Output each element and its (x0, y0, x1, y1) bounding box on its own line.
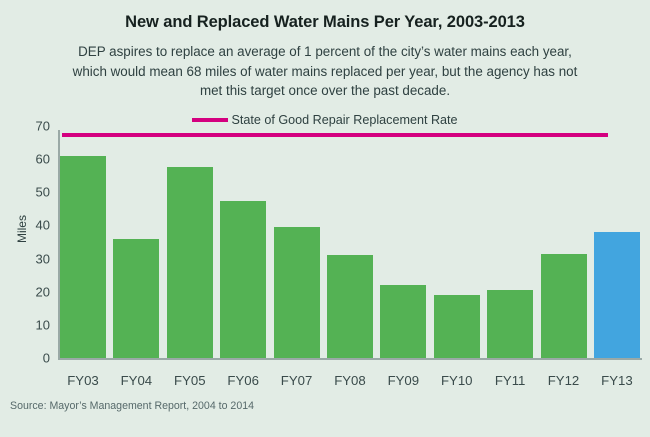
y-tick-label: 60 (36, 152, 50, 167)
bar-slot (434, 126, 480, 358)
reference-line-target-rate (62, 133, 608, 137)
bar-fy03[interactable] (60, 156, 106, 358)
x-axis-labels: FY03FY04FY05FY06FY07FY08FY09FY10FY11FY12… (60, 373, 640, 388)
bar-slot (487, 126, 533, 358)
bar-slot (113, 126, 159, 358)
bar-slot (380, 126, 426, 358)
bar-fy08[interactable] (327, 255, 373, 358)
legend-item-target-rate: State of Good Repair Replacement Rate (192, 113, 457, 127)
bar-fy10[interactable] (434, 295, 480, 358)
y-tick-label: 30 (36, 251, 50, 266)
y-tick-label: 40 (36, 218, 50, 233)
source-note: Source: Mayor’s Management Report, 2004 … (10, 400, 254, 412)
x-tick-label: FY04 (113, 373, 159, 388)
bar-slot (220, 126, 266, 358)
bar-fy05[interactable] (167, 167, 213, 358)
bar-series (60, 126, 640, 358)
y-tick-label: 50 (36, 185, 50, 200)
x-tick-label: FY13 (594, 373, 640, 388)
legend-line-swatch-icon (192, 118, 228, 122)
bar-fy07[interactable] (274, 227, 320, 358)
bar-slot (327, 126, 373, 358)
x-tick-label: FY03 (60, 373, 106, 388)
chart-title: New and Replaced Water Mains Per Year, 2… (0, 13, 650, 32)
bar-slot (541, 126, 587, 358)
x-tick-label: FY07 (274, 373, 320, 388)
legend-item-label: State of Good Repair Replacement Rate (231, 113, 457, 127)
chart-subtitle: DEP aspires to replace an average of 1 p… (62, 42, 588, 101)
x-tick-label: FY06 (220, 373, 266, 388)
y-tick-label: 70 (36, 119, 50, 134)
bar-fy09[interactable] (380, 285, 426, 358)
plot-area: Miles 010203040506070 (0, 126, 650, 371)
bar-slot (594, 126, 640, 358)
x-tick-label: FY05 (167, 373, 213, 388)
x-tick-label: FY11 (487, 373, 533, 388)
bar-fy04[interactable] (113, 239, 159, 358)
y-tick-label: 20 (36, 284, 50, 299)
x-tick-label: FY09 (380, 373, 426, 388)
y-axis-ticks: 010203040506070 (0, 126, 58, 358)
bar-fy06[interactable] (220, 201, 266, 358)
bar-fy13[interactable] (594, 232, 640, 358)
y-tick-label: 0 (43, 351, 50, 366)
bar-slot (60, 126, 106, 358)
x-tick-label: FY12 (541, 373, 587, 388)
x-axis-line (58, 358, 642, 360)
bar-fy12[interactable] (541, 254, 587, 358)
x-tick-label: FY08 (327, 373, 373, 388)
bar-slot (274, 126, 320, 358)
x-tick-label: FY10 (434, 373, 480, 388)
y-tick-label: 10 (36, 317, 50, 332)
chart-legend: State of Good Repair Replacement Rate (0, 113, 650, 127)
bar-fy11[interactable] (487, 290, 533, 358)
chart-card: New and Replaced Water Mains Per Year, 2… (0, 0, 650, 437)
bar-slot (167, 126, 213, 358)
